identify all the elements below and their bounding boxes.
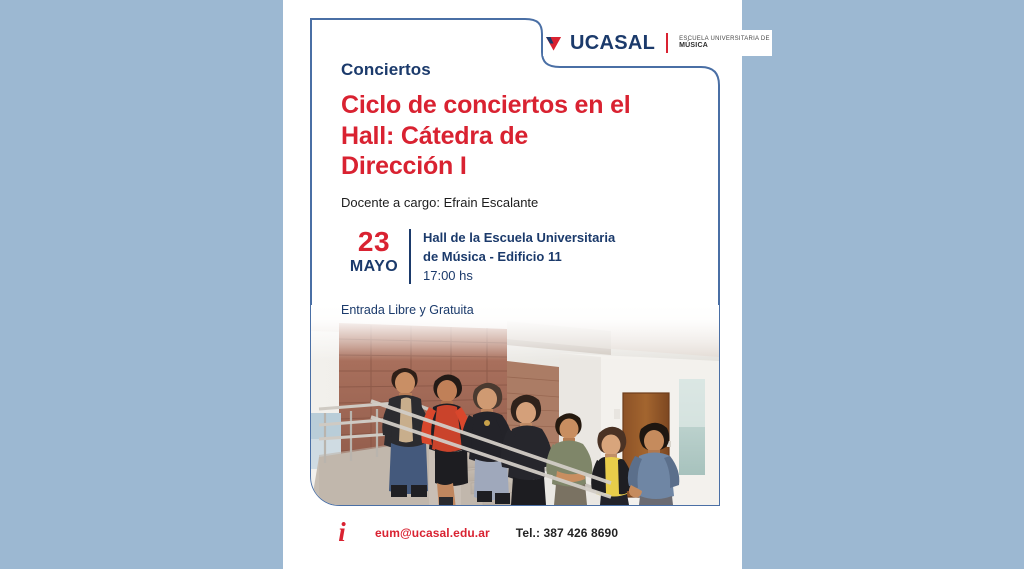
contact-email[interactable]: eum@ucasal.edu.ar: [375, 526, 490, 540]
brand-divider: [666, 33, 668, 53]
brand-wordmark: UCASAL: [570, 33, 655, 53]
event-date-month: MAYO: [341, 256, 407, 278]
info-icon: i: [331, 519, 353, 546]
event-date-day: 23: [341, 228, 407, 256]
category-eyebrow: Conciertos: [341, 60, 641, 80]
poster-canvas: UCASAL ESCUELA UNIVERSITARIA DE MÚSICA C…: [0, 0, 1024, 569]
event-photo-image: [311, 305, 719, 505]
poster-sheet: UCASAL ESCUELA UNIVERSITARIA DE MÚSICA C…: [283, 0, 742, 569]
event-venue-line1: Hall de la Escuela Universitaria: [423, 229, 615, 247]
event-time: 17:00 hs: [423, 266, 615, 286]
poster-content: Conciertos Ciclo de conciertos en el Hal…: [341, 60, 641, 318]
event-date: 23 MAYO: [341, 227, 407, 278]
admission-note: Entrada Libre y Gratuita: [341, 302, 641, 318]
event-details: 23 MAYO Hall de la Escuela Universitaria…: [341, 227, 641, 285]
teacher-credit: Docente a cargo: Efrain Escalante: [341, 195, 641, 211]
event-date-divider: [409, 229, 411, 283]
event-venue-line2: de Música - Edificio 11: [423, 248, 615, 266]
brand-subtitle: ESCUELA UNIVERSITARIA DE MÚSICA: [679, 36, 770, 51]
event-photo: [311, 305, 719, 505]
footer-contact: i eum@ucasal.edu.ar Tel.: 387 426 8690: [331, 519, 618, 546]
page-title: Ciclo de conciertos en el Hall: Cátedra …: [341, 90, 633, 181]
ucasal-logo-mark-icon: [545, 35, 562, 52]
contact-phone: Tel.: 387 426 8690: [516, 526, 618, 540]
brand-subtitle-line2: MÚSICA: [679, 42, 770, 50]
brand-logo: UCASAL ESCUELA UNIVERSITARIA DE MÚSICA: [543, 30, 772, 56]
event-venue: Hall de la Escuela Universitaria de Músi…: [423, 227, 615, 285]
